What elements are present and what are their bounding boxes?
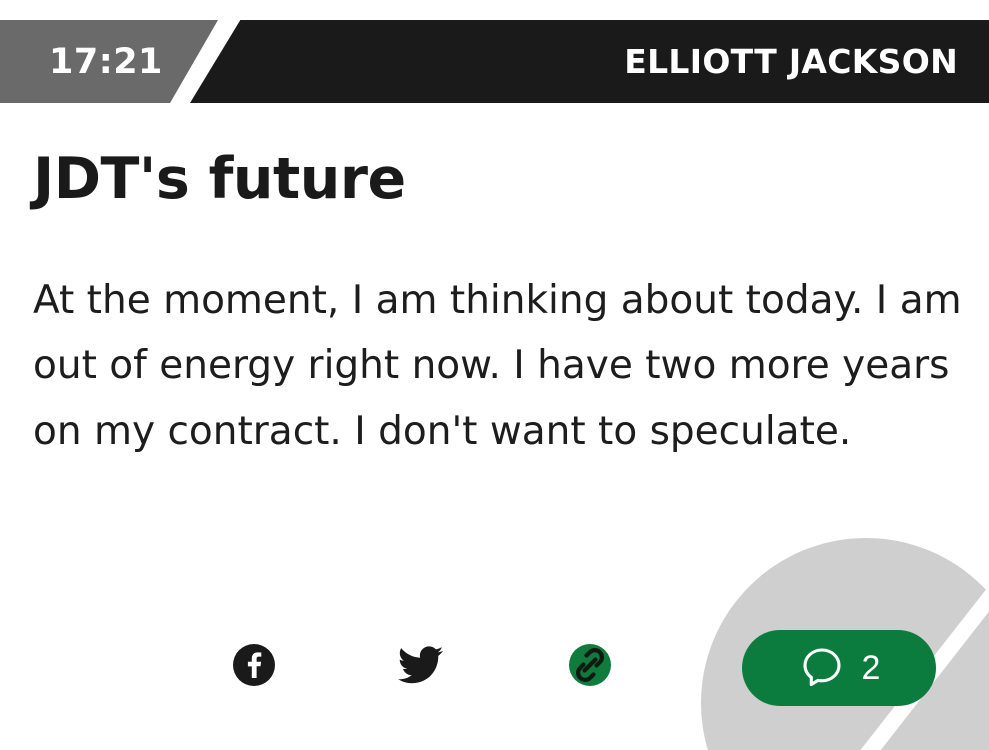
- time-block: 17:21: [0, 20, 218, 103]
- comments-button[interactable]: 2: [742, 630, 936, 706]
- article-quote: At the moment, I am thinking about today…: [33, 210, 963, 465]
- twitter-icon: [398, 645, 444, 689]
- current-time: 17:21: [0, 42, 163, 82]
- facebook-share-button[interactable]: [231, 644, 277, 690]
- speech-bubble-icon: [798, 643, 846, 694]
- comment-count: 2: [862, 651, 881, 685]
- article-card: 17:21 ELLIOTT JACKSON JDT's future At th…: [0, 0, 989, 750]
- copy-link-button[interactable]: [567, 644, 613, 690]
- header-bar: 17:21 ELLIOTT JACKSON: [0, 20, 989, 103]
- facebook-icon: [232, 643, 276, 691]
- article-content: JDT's future At the moment, I am thinkin…: [33, 150, 963, 464]
- author-name: ELLIOTT JACKSON: [624, 42, 989, 81]
- link-icon: [567, 642, 613, 692]
- author-block: ELLIOTT JACKSON: [190, 20, 989, 103]
- twitter-share-button[interactable]: [398, 644, 444, 690]
- share-row: 2: [0, 628, 989, 728]
- page-title: JDT's future: [33, 150, 963, 210]
